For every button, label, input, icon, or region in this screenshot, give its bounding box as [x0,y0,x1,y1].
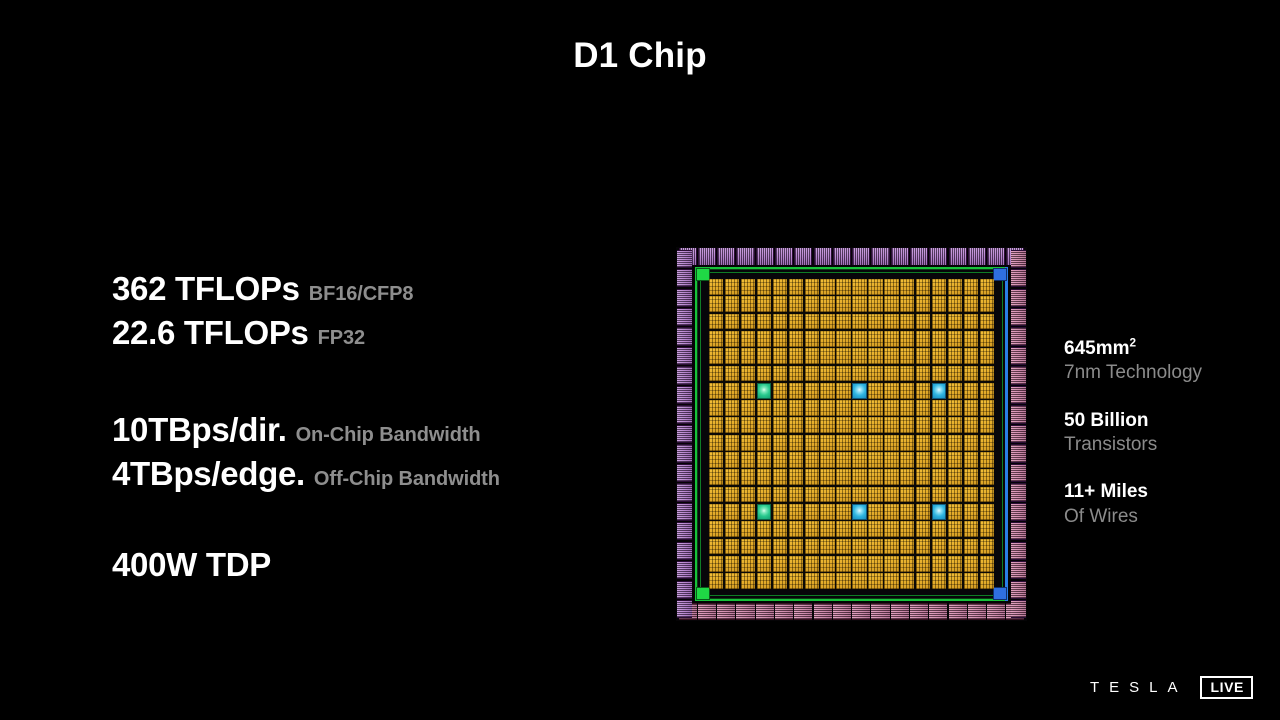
compute-tile [741,383,755,399]
io-pad-row-bottom [678,603,1025,620]
compute-tile [884,504,898,520]
io-pad [814,603,832,620]
compute-tile [852,366,866,382]
compute-tile [852,279,866,295]
io-pad [987,603,1005,620]
compute-tile [805,366,819,382]
compute-tile [964,487,978,503]
compute-tile [820,573,834,589]
compute-tile [757,539,771,555]
compute-tile [868,556,882,572]
compute-tile [805,469,819,485]
io-pad [1011,289,1026,307]
compute-tile [884,348,898,364]
io-pad [677,250,692,268]
compute-tile [932,539,946,555]
compute-tile [789,487,803,503]
compute-tile [820,469,834,485]
compute-tile [725,348,739,364]
compute-tile [709,348,723,364]
compute-tile [932,348,946,364]
die-corner-mark-bottom-left [696,587,710,600]
page-title: D1 Chip [0,36,1280,76]
compute-tile [900,521,914,537]
compute-tile [980,331,994,347]
io-pad [1011,561,1026,579]
compute-tile [773,504,787,520]
compute-tile [805,435,819,451]
compute-tile [741,348,755,364]
compute-tile [868,469,882,485]
io-pad [968,248,986,265]
compute-tile [868,331,882,347]
compute-tile [932,556,946,572]
compute-tile [900,279,914,295]
compute-tile [980,469,994,485]
compute-tile [980,383,994,399]
io-pad [677,561,692,579]
compute-tile [852,573,866,589]
spec-die-area: 645mm2 7nm Technology [1064,337,1274,386]
io-pad [852,248,870,265]
die-seal-ring [695,267,1008,601]
compute-tile [709,296,723,312]
die-edge-blue-strip [1005,267,1008,601]
io-pad [756,248,774,265]
compute-tile [820,556,834,572]
compute-tile [900,348,914,364]
compute-tile [773,331,787,347]
compute-tile [868,383,882,399]
io-pad [891,603,909,620]
spec-value: 10TBps/dir. [112,411,287,448]
spec-label: Of Wires [1064,505,1274,529]
io-pad [1011,542,1026,560]
spec-value: 400W TDP [112,546,271,583]
compute-tile [948,296,962,312]
io-pad [677,464,692,482]
io-pad [1011,425,1026,443]
compute-tile [900,331,914,347]
compute-tile [964,314,978,330]
io-pad [1011,444,1026,462]
spec-row-tflops-bf16: 362 TFLOPsBF16/CFP8 [112,272,632,305]
compute-tile [948,539,962,555]
io-pad [1011,600,1026,618]
compute-tile [852,539,866,555]
compute-tile [789,296,803,312]
compute-tile [757,452,771,468]
compute-tile [805,573,819,589]
compute-tile [773,539,787,555]
compute-tile [900,469,914,485]
compute-tile [836,521,850,537]
io-pad-row-top [678,248,1025,265]
compute-tile [868,279,882,295]
compute-tile [900,314,914,330]
compute-tile [884,573,898,589]
compute-tile [852,487,866,503]
compute-tile [789,539,803,555]
compute-tile [757,314,771,330]
io-pad [756,603,774,620]
spec-group-divider [112,501,632,548]
spec-value-text: 645mm [1064,338,1130,359]
compute-tile [900,504,914,520]
compute-tile [757,331,771,347]
compute-tile [932,331,946,347]
io-pad [871,603,889,620]
compute-tile [932,417,946,433]
io-pad [677,542,692,560]
io-pad [929,248,947,265]
spec-label: Transistors [1064,433,1274,457]
compute-tile [741,331,755,347]
compute-tile [852,348,866,364]
compute-tile [852,435,866,451]
compute-tile [916,296,930,312]
compute-tile [884,417,898,433]
io-pad [677,405,692,423]
io-pad [1011,581,1026,599]
compute-tile [725,504,739,520]
compute-tile [709,417,723,433]
io-pad [677,444,692,462]
compute-tile [868,521,882,537]
die-corner-mark-bottom-right [993,587,1007,600]
compute-tile [900,417,914,433]
compute-tile-grid [709,279,994,589]
compute-tile [948,521,962,537]
io-pad [677,503,692,521]
compute-tile [980,504,994,520]
io-pad [833,603,851,620]
compute-tile [805,400,819,416]
compute-tile [820,487,834,503]
compute-tile [789,348,803,364]
compute-tile [836,556,850,572]
compute-tile [916,331,930,347]
compute-tile [948,469,962,485]
compute-tile [836,314,850,330]
compute-tile [773,487,787,503]
compute-tile [789,452,803,468]
compute-tile [725,539,739,555]
compute-tile [932,279,946,295]
compute-tile [805,504,819,520]
compute-tile [789,314,803,330]
io-pad [1011,483,1026,501]
compute-tile [773,296,787,312]
compute-tile [757,296,771,312]
compute-tile [757,556,771,572]
io-pad [794,603,812,620]
compute-tile [868,366,882,382]
compute-tile [836,366,850,382]
compute-tile [709,504,723,520]
io-pad [717,603,735,620]
compute-tile [932,366,946,382]
compute-tile [964,296,978,312]
compute-tile [725,573,739,589]
compute-tile [709,400,723,416]
compute-tile [820,331,834,347]
compute-tile [932,314,946,330]
compute-tile [820,435,834,451]
io-pad [852,603,870,620]
compute-tile [868,400,882,416]
compute-tile [900,383,914,399]
compute-tile [709,452,723,468]
compute-tile [884,521,898,537]
spec-wire-length: 11+ Miles Of Wires [1064,480,1274,529]
compute-tile [868,296,882,312]
compute-tile [820,504,834,520]
compute-tile [741,539,755,555]
io-pad [736,603,754,620]
compute-tile [820,539,834,555]
compute-tile [741,487,755,503]
die-corner-mark-top-right [993,268,1007,281]
compute-tile [709,331,723,347]
compute-tile [741,400,755,416]
compute-tile [757,348,771,364]
io-pad [698,603,716,620]
io-pad [1011,366,1026,384]
compute-tile [820,400,834,416]
io-pad [929,603,947,620]
compute-tile [773,452,787,468]
compute-tile-marker [932,504,946,520]
compute-tile [964,435,978,451]
io-pad [1011,308,1026,326]
compute-tile [805,417,819,433]
compute-tile [725,487,739,503]
compute-tile [948,314,962,330]
compute-tile [789,573,803,589]
io-pad [677,327,692,345]
compute-tile [725,383,739,399]
compute-tile [916,435,930,451]
compute-tile [789,435,803,451]
compute-tile [741,452,755,468]
spec-label: FP32 [318,327,365,349]
compute-tile [884,539,898,555]
compute-tile [709,435,723,451]
io-pad [698,248,716,265]
compute-tile [805,556,819,572]
compute-tile [709,469,723,485]
compute-tile [805,296,819,312]
compute-tile [773,435,787,451]
compute-tile [884,331,898,347]
compute-tile [948,417,962,433]
compute-tile [932,469,946,485]
io-pad [1011,347,1026,365]
compute-tile [916,521,930,537]
compute-tile [725,469,739,485]
compute-tile [757,366,771,382]
io-pad [677,269,692,287]
right-spec-list: 645mm2 7nm Technology 50 Billion Transis… [1064,337,1274,529]
compute-tile [725,521,739,537]
compute-tile-marker [852,504,866,520]
compute-tile [741,417,755,433]
spec-value: 11+ Miles [1064,480,1274,504]
compute-tile [948,366,962,382]
compute-tile [709,366,723,382]
io-pad [677,425,692,443]
compute-tile-marker [757,504,771,520]
compute-tile [789,400,803,416]
compute-tile [948,348,962,364]
compute-tile [980,539,994,555]
compute-tile [773,469,787,485]
compute-tile [725,435,739,451]
compute-tile [709,487,723,503]
compute-tile [805,348,819,364]
compute-tile [884,366,898,382]
compute-tile [773,348,787,364]
io-pad-row-left [677,249,692,619]
compute-tile [709,314,723,330]
compute-tile [852,556,866,572]
compute-tile [964,556,978,572]
compute-tile [916,469,930,485]
compute-tile [980,296,994,312]
compute-tile [900,452,914,468]
compute-tile [773,279,787,295]
io-pad [1011,503,1026,521]
compute-tile [789,331,803,347]
compute-tile [916,417,930,433]
spec-row-on-chip-bandwidth: 10TBps/dir.On-Chip Bandwidth [112,413,632,446]
compute-tile [773,314,787,330]
compute-tile [741,435,755,451]
compute-tile [916,452,930,468]
compute-tile [789,279,803,295]
compute-tile [884,279,898,295]
spec-label: 7nm Technology [1064,361,1274,385]
compute-tile [964,348,978,364]
spec-value: 50 Billion [1064,409,1274,433]
compute-tile [741,504,755,520]
compute-tile [773,573,787,589]
compute-tile [820,366,834,382]
compute-tile [884,435,898,451]
compute-tile [836,331,850,347]
compute-tile [757,435,771,451]
io-pad [910,603,928,620]
io-pad [775,248,793,265]
compute-tile [964,366,978,382]
compute-tile [852,314,866,330]
compute-tile [773,521,787,537]
io-pad [1011,522,1026,540]
compute-tile [900,573,914,589]
compute-tile [916,573,930,589]
compute-tile [868,435,882,451]
compute-tile [948,487,962,503]
compute-tile [836,452,850,468]
io-pad [677,308,692,326]
compute-tile [916,279,930,295]
io-pad [677,386,692,404]
compute-tile [916,556,930,572]
compute-tile [820,452,834,468]
spec-value: 4TBps/edge. [112,455,305,492]
io-pad [1011,269,1026,287]
compute-tile [836,383,850,399]
compute-tile [773,366,787,382]
compute-tile [741,521,755,537]
compute-tile [789,366,803,382]
spec-value: 645mm2 [1064,337,1274,361]
compute-tile [916,366,930,382]
compute-tile [980,279,994,295]
io-pad [871,248,889,265]
compute-tile [836,435,850,451]
compute-tile [741,366,755,382]
compute-tile-marker [757,383,771,399]
compute-tile [964,573,978,589]
io-pad [677,347,692,365]
compute-tile [852,452,866,468]
compute-tile [836,279,850,295]
io-pad [891,248,909,265]
compute-tile [820,521,834,537]
compute-tile [805,314,819,330]
compute-tile [820,296,834,312]
compute-tile [757,573,771,589]
compute-tile [820,279,834,295]
compute-tile [980,366,994,382]
compute-tile [852,469,866,485]
io-pad [717,248,735,265]
compute-tile [932,573,946,589]
compute-tile [980,556,994,572]
io-pad [949,603,967,620]
compute-tile [820,383,834,399]
compute-tile [725,279,739,295]
io-pad [833,248,851,265]
compute-tile [980,487,994,503]
compute-tile [964,504,978,520]
spec-value-superscript: 2 [1130,337,1137,350]
compute-tile [932,435,946,451]
compute-tile [900,435,914,451]
live-badge: LIVE [1200,676,1253,699]
io-pad [1011,464,1026,482]
compute-tile [725,296,739,312]
compute-tile [868,314,882,330]
compute-tile [741,296,755,312]
compute-tile [948,331,962,347]
compute-tile [741,573,755,589]
compute-tile [725,452,739,468]
compute-tile [836,469,850,485]
spec-label: On-Chip Bandwidth [296,424,481,446]
compute-tile [805,539,819,555]
compute-tile [884,487,898,503]
spec-transistor-count: 50 Billion Transistors [1064,409,1274,458]
compute-tile [836,417,850,433]
compute-tile [773,417,787,433]
compute-tile [980,314,994,330]
compute-tile [948,435,962,451]
compute-tile [709,383,723,399]
io-pad [968,603,986,620]
